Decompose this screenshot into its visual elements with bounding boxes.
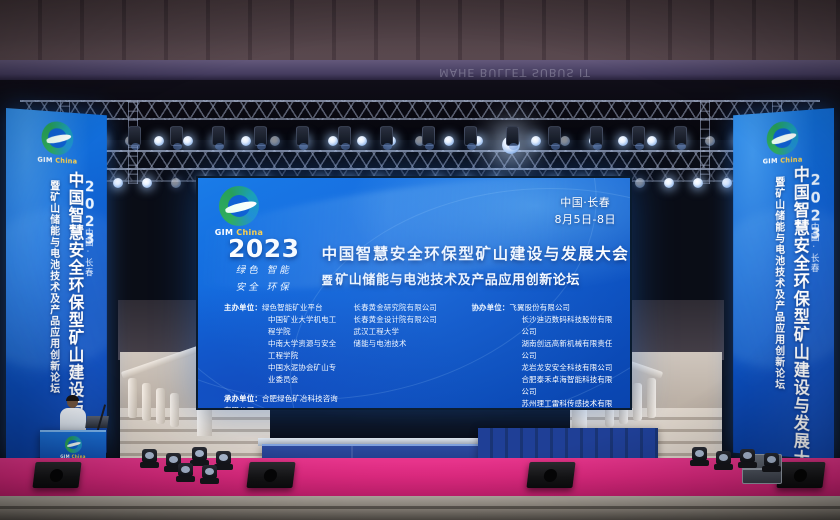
stage-monitor-speaker [32, 462, 81, 488]
moving-head-light [422, 126, 435, 146]
stage-lamp [154, 136, 164, 146]
gim-logo-left-banner: GIM China [32, 120, 82, 166]
screen-title-row: 2023 绿色 智能 安全 环保 中国智慧安全环保型矿山建设与发展大会 暨矿山储… [228, 236, 618, 295]
baluster [128, 378, 137, 418]
stage-lamp [531, 136, 541, 146]
stage-lamp [113, 178, 123, 188]
floor-moving-light [762, 452, 781, 472]
foreground-floor [0, 496, 840, 520]
moving-head-light [506, 126, 519, 146]
host2-item-3: 储能与电池技术 [354, 338, 462, 350]
led-screen-background: GIM China 中国·长春 8月5日-8日 2023 绿色 智能 安全 环保… [198, 178, 630, 408]
ceiling-reflected-text: MAHE BULLET SUBUS IT [400, 61, 630, 79]
baluster [647, 378, 656, 418]
stage-lamp [664, 178, 674, 188]
baluster [156, 388, 165, 424]
stage-lamp [722, 178, 732, 188]
moving-head-light [128, 126, 141, 146]
banner-right: GIM China 2023 中国·长春 中国智慧安全环保型矿山建设与发展大会 … [733, 108, 834, 460]
speaker-hair [66, 395, 79, 401]
host-item-2: 中南大学资源与安全工程学院 [224, 338, 344, 362]
baluster [142, 383, 151, 421]
banner-left-city: 中国·长春 [82, 228, 94, 277]
gim-ring-icon [42, 120, 74, 155]
gim-ring-icon [767, 120, 799, 155]
floor-moving-light [200, 464, 219, 484]
baluster [633, 383, 642, 421]
mover-base [176, 476, 195, 482]
gim-ring-icon [219, 186, 259, 226]
stage-monitor-speaker [776, 462, 825, 488]
screen-year-block: 2023 绿色 智能 安全 环保 [228, 236, 300, 295]
mover-base [738, 462, 757, 468]
stage-lamp [693, 178, 703, 188]
sponsor-column-host2: 长春黄金研究院有限公司 长春黄金设计院有限公司 武汉工程大学 储能与电池技术 [354, 302, 462, 410]
screen-title-text: 中国智慧安全环保型矿山建设与发展大会 暨矿山储能与电池技术及产品应用创新论坛 [322, 242, 630, 288]
moving-head-light [338, 126, 351, 146]
stage-lamp [560, 136, 570, 146]
host2-item-1: 长春黄金设计院有限公司 [354, 314, 462, 326]
moving-head-light [212, 126, 225, 146]
floor-moving-light [690, 446, 709, 466]
host-row: 主办单位：绿色智能矿业平台 [224, 302, 344, 314]
gim-logo-abbr: GIM [37, 156, 52, 165]
mover-base [690, 460, 709, 466]
mover-lens [767, 456, 776, 463]
moving-head-light [170, 126, 183, 146]
screen-title-sub-row: 暨矿山储能与电池技术及产品应用创新论坛 [322, 269, 630, 288]
moving-head-light [464, 126, 477, 146]
gim-logo-main-screen: GIM China [208, 186, 270, 237]
coorg-item-3: 龙岩龙安安全科技有限公司 [471, 362, 616, 374]
host-item-3: 中国水泥协会矿山专业委员会 [224, 362, 344, 386]
coorg-label: 协办单位： [471, 303, 509, 312]
gim-logo-right-banner: GIM China [758, 120, 808, 166]
sponsor-column-coorganizer: 协办单位：飞翼股份有限公司 长沙迪迈数码科技股份有限公司 湖南创远高新机械有限责… [471, 302, 616, 410]
stage-lamp [142, 178, 152, 188]
screen-title-main: 中国智慧安全环保型矿山建设与发展大会 [322, 242, 630, 264]
screen-sponsor-block: 主办单位：绿色智能矿业平台 中国矿业大学机电工程学院 中南大学资源与安全工程学院… [224, 302, 616, 410]
mover-lens [743, 452, 752, 459]
mover-base [200, 478, 219, 484]
coorg-item-0: 飞翼股份有限公司 [509, 303, 570, 312]
gim-ring-icon [65, 436, 82, 453]
main-led-screen: GIM China 中国·长春 8月5日-8日 2023 绿色 智能 安全 环保… [196, 176, 632, 410]
coorg-item-4: 合肥泰禾卓海智能科技有限公司 [471, 374, 616, 398]
stage-lamp [171, 178, 181, 188]
stage-lamp [618, 136, 628, 146]
stage-lamp [357, 136, 367, 146]
banner-left: GIM China 2023 中国·长春 中国智慧安全环保型矿山建设与发展大会 … [6, 108, 107, 460]
screen-title-sub: 矿山储能与电池技术及产品应用创新论坛 [335, 273, 580, 288]
moving-head-light [548, 126, 561, 146]
host-label: 主办单位： [224, 303, 262, 312]
mover-lens [205, 468, 214, 475]
screen-location: 中国·长春 [555, 194, 616, 211]
mover-lens [181, 466, 190, 473]
gim-logo-podium: GIM China [60, 436, 86, 459]
mover-lens [719, 454, 728, 461]
mover-lens [145, 452, 154, 459]
screen-date: 8月5日-8日 [555, 211, 616, 228]
screen-motto-line1: 绿色 智能 [228, 264, 300, 278]
ceiling-panels [0, 0, 840, 60]
floor-moving-light [738, 448, 757, 468]
screen-year: 2023 [228, 236, 300, 261]
stage-monitor-speaker [526, 462, 575, 488]
stage-lamp [444, 136, 454, 146]
banner-right-city: 中国·长春 [808, 222, 820, 273]
mover-base [762, 466, 781, 472]
speaker-at-podium [58, 396, 88, 434]
screen-location-date: 中国·长春 8月5日-8日 [555, 194, 616, 228]
stage-lamp [241, 136, 251, 146]
stage-lamp [705, 136, 715, 146]
moving-head-light [632, 126, 645, 146]
moving-head-light [254, 126, 267, 146]
stage-lamp [647, 136, 657, 146]
stage-monitor-speaker [246, 462, 295, 488]
gim-logo-cn: China [55, 157, 77, 166]
banner-right-title-sub: 暨矿山储能与电池技术及产品应用创新论坛 [774, 176, 784, 446]
baluster [170, 393, 179, 427]
coorg-row: 协办单位：飞翼股份有限公司 [471, 302, 616, 314]
stage-lamp [183, 136, 193, 146]
sponsor-column-host: 主办单位：绿色智能矿业平台 中国矿业大学机电工程学院 中南大学资源与安全工程学院… [224, 302, 344, 410]
mover-base [140, 462, 159, 468]
moving-head-light [674, 126, 687, 146]
floor-moving-light [140, 448, 159, 468]
gim-logo-abbr: GIM [763, 157, 778, 166]
stage-lamp [635, 178, 645, 188]
coorg-item-1: 长沙迪迈数码科技股份有限公司 [471, 314, 616, 338]
stage-lamp [270, 136, 280, 146]
banner-right-title-main: 中国智慧安全环保型矿山建设与发展大会 [791, 165, 807, 448]
coorg-item-5: 苏州理工雷科传感技术有限公司 [471, 398, 616, 410]
screen-title-sub-amp: 暨 [322, 274, 334, 287]
mover-lens [195, 450, 204, 457]
truss-middle [60, 150, 780, 170]
moving-head-light [590, 126, 603, 146]
floor-moving-light [176, 462, 195, 482]
gim-logo-cn: China [780, 156, 802, 165]
conference-stage-photo: MAHE BULLET SUBUS IT [0, 0, 840, 520]
mover-base [714, 464, 733, 470]
host-item-1: 中国矿业大学机电工程学院 [224, 314, 344, 338]
host2-item-2: 武汉工程大学 [354, 326, 462, 338]
host2-item-0: 长春黄金研究院有限公司 [354, 302, 462, 314]
mover-lens [219, 454, 228, 461]
mover-lens [695, 450, 704, 457]
organizer-label: 承办单位： [224, 394, 262, 403]
screen-motto-line2: 安全 环保 [228, 281, 300, 295]
organizer-row: 承办单位：合肥绿色矿冶科技咨询有限公司 [224, 393, 344, 410]
host-item-0: 绿色智能矿业平台 [262, 303, 323, 312]
moving-head-light [296, 126, 309, 146]
floor-moving-light [714, 450, 733, 470]
coorg-item-2: 湖南创远高新机械有限责任公司 [471, 338, 616, 362]
stage-lamp [328, 136, 338, 146]
moving-head-light [380, 126, 393, 146]
